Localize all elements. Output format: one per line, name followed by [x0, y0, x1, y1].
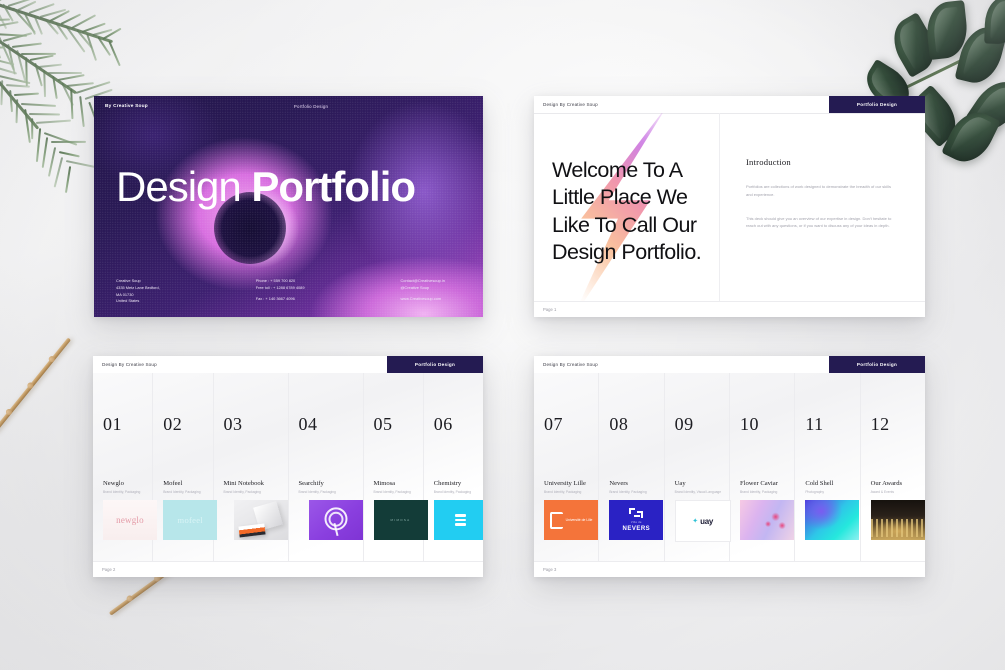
- project-name: Mofeel: [163, 480, 182, 487]
- project-number: 04: [299, 414, 318, 435]
- project-column[interactable]: 03 Mini Notebook Brand Identity, Packagi…: [214, 373, 289, 562]
- project-tags: Brand Identity, Packaging: [103, 490, 140, 494]
- thumbnail-wordmark: mofeel: [178, 515, 203, 525]
- thumbnail-wordmark: MIMOSA: [391, 518, 411, 522]
- project-thumbnail[interactable]: Ville de NEVERS: [609, 500, 663, 540]
- project-name: Nevers: [609, 480, 628, 487]
- slide-footer: Page 1: [534, 301, 925, 317]
- thumbnail-wordmark: uay: [700, 517, 713, 526]
- project-column[interactable]: 04 Searchify Brand Identity, Packaging: [289, 373, 364, 562]
- project-thumbnail[interactable]: [871, 500, 925, 540]
- slide-welcome[interactable]: Design By Creative Soup Portfolio Design…: [534, 96, 925, 317]
- address-line: 4335 Metz Lane Bedford,: [116, 285, 160, 292]
- project-number: 11: [805, 414, 823, 435]
- page-label: Page 3: [543, 567, 556, 572]
- address-line: United States: [116, 298, 160, 305]
- project-tags: Brand Identity, Packaging: [299, 490, 336, 494]
- project-tags: Brand Identity, Packaging: [609, 490, 646, 494]
- cover-address-block: Creative Soup 4335 Metz Lane Bedford, MA…: [116, 278, 160, 305]
- fax-line: Fax : + 140 3667 4096: [256, 296, 305, 303]
- thumbnail-sublabel: Ville de: [631, 521, 642, 524]
- welcome-left-panel: Welcome To A Little Place We Like To Cal…: [534, 113, 720, 302]
- cover-deck-label: Portfolio Design: [294, 104, 328, 109]
- project-column[interactable]: 10 Flower Caviar Brand Identity, Packagi…: [730, 373, 795, 562]
- introduction-paragraph: This deck should give you an overview of…: [746, 215, 895, 231]
- project-column[interactable]: 08 Nevers Brand Identity, Packaging Vill…: [599, 373, 664, 562]
- notebook-band-shape: [238, 523, 265, 537]
- social-line[interactable]: @Creative Soup: [400, 285, 444, 292]
- project-name: Cold Shell: [805, 480, 833, 487]
- project-column[interactable]: 09 Uay Brand Identity, Visual Language ✦…: [665, 373, 730, 562]
- project-column[interactable]: 11 Cold Shell Photography: [795, 373, 860, 562]
- cover-title-light: Design: [116, 163, 251, 210]
- project-name: Chemistry: [434, 480, 461, 487]
- header-badge: Portfolio Design: [829, 356, 925, 373]
- welcome-title: Welcome To A Little Place We Like To Cal…: [552, 157, 719, 266]
- cover-phone-block: Phone : + 559 700 820 Free toll : + 1288…: [256, 278, 305, 305]
- project-column[interactable]: 01 Newglo Brand Identity, Packaging newg…: [93, 373, 153, 562]
- project-thumbnail[interactable]: [805, 500, 859, 540]
- cover-contact-block: Contact@Creativesoup.in @Creative Soup w…: [400, 278, 444, 305]
- slide-projects-two[interactable]: Design By Creative Soup Portfolio Design…: [534, 356, 925, 577]
- awards-crowd-texture: [871, 519, 925, 537]
- project-tags: Brand Identity, Packaging: [163, 490, 200, 494]
- project-number: 09: [675, 414, 694, 435]
- cover-title-bold: Portfolio: [251, 163, 415, 210]
- project-name: Searchify: [299, 480, 324, 487]
- project-thumbnail[interactable]: [234, 500, 288, 540]
- project-grid: 01 Newglo Brand Identity, Packaging newg…: [93, 373, 483, 562]
- cover-header: By Creative Soup Portfolio Design: [105, 104, 472, 109]
- project-tags: Brand Identity, Visual Language: [675, 490, 721, 494]
- slide-cover[interactable]: By Creative Soup Portfolio Design Design…: [94, 96, 483, 317]
- project-thumbnail[interactable]: [740, 500, 794, 540]
- header-brand-label: Design By Creative Soup: [543, 362, 598, 367]
- nevers-glyph-icon: [628, 508, 644, 519]
- slide-footer: Page 2: [93, 561, 483, 577]
- cover-footer: Creative Soup 4335 Metz Lane Bedford, MA…: [116, 278, 467, 305]
- project-number: 02: [163, 414, 182, 435]
- project-column[interactable]: 07 University Lille Brand Identity, Pack…: [534, 373, 599, 562]
- project-tags: Brand Identity, Packaging: [740, 490, 777, 494]
- slide-projects-one[interactable]: Design By Creative Soup Portfolio Design…: [93, 356, 483, 577]
- slide-footer: Page 3: [534, 561, 925, 577]
- project-thumbnail[interactable]: [309, 500, 363, 540]
- project-thumbnail[interactable]: ✦ uay: [675, 500, 731, 542]
- project-tags: Brand Identity, Packaging: [544, 490, 581, 494]
- phone-line: Phone : + 559 700 820: [256, 278, 305, 285]
- project-thumbnail[interactable]: newglo: [103, 500, 157, 540]
- project-thumbnail[interactable]: [434, 500, 483, 540]
- header-badge: Portfolio Design: [829, 96, 925, 113]
- phone-line: Free toll : + 1288 6789 4089: [256, 285, 305, 292]
- project-thumbnail[interactable]: Université de Lille: [544, 500, 598, 540]
- project-number: 10: [740, 414, 759, 435]
- cover-brand-label: By Creative Soup: [105, 104, 148, 109]
- introduction-paragraph: Portfolios are collections of work desig…: [746, 183, 895, 199]
- project-name: Flower Caviar: [740, 480, 778, 487]
- address-line: Creative Soup: [116, 278, 160, 285]
- project-number: 08: [609, 414, 628, 435]
- project-number: 07: [544, 414, 563, 435]
- stacked-bars-icon: [455, 512, 466, 527]
- website-line[interactable]: www.Creativesoup.com: [400, 296, 444, 303]
- cover-title: Design Portfolio: [116, 166, 415, 208]
- thumbnail-wordmark: Université de Lille: [566, 518, 593, 523]
- project-tags: Photography: [805, 490, 824, 494]
- project-name: Uay: [675, 480, 686, 487]
- university-crest-icon: [550, 512, 563, 529]
- welcome-body: Welcome To A Little Place We Like To Cal…: [534, 113, 925, 302]
- badge-label: Portfolio Design: [857, 102, 897, 107]
- badge-label: Portfolio Design: [415, 362, 455, 367]
- project-column[interactable]: 02 Mofeel Brand Identity, Packaging mofe…: [153, 373, 213, 562]
- project-number: 03: [224, 414, 243, 435]
- project-tags: Award & Events: [871, 490, 894, 494]
- project-name: University Lille: [544, 480, 586, 487]
- project-number: 12: [871, 414, 890, 435]
- uay-mark-icon: ✦: [692, 517, 698, 525]
- thumbnail-wordmark: newglo: [116, 515, 144, 525]
- project-tags: Brand Identity, Packaging: [434, 490, 471, 494]
- project-tags: Brand Identity, Packaging: [374, 490, 411, 494]
- project-name: Our Awards: [871, 480, 902, 487]
- project-thumbnail[interactable]: MIMOSA: [374, 500, 428, 540]
- project-tags: Brand Identity, Packaging: [224, 490, 261, 494]
- page-label: Page 1: [543, 307, 556, 312]
- project-number: 05: [374, 414, 393, 435]
- project-grid: 07 University Lille Brand Identity, Pack…: [534, 373, 925, 562]
- thumbnail-wordmark: NEVERS: [622, 526, 650, 532]
- project-number: 06: [434, 414, 453, 435]
- email-line[interactable]: Contact@Creativesoup.in: [400, 278, 444, 285]
- project-column[interactable]: 06 Chemistry Brand Identity, Packaging: [424, 373, 483, 562]
- page-label: Page 2: [102, 567, 115, 572]
- header-badge: Portfolio Design: [387, 356, 483, 373]
- project-column[interactable]: 12 Our Awards Award & Events: [861, 373, 925, 562]
- badge-label: Portfolio Design: [857, 362, 897, 367]
- header-brand-label: Design By Creative Soup: [102, 362, 157, 367]
- project-name: Mimosa: [374, 480, 396, 487]
- introduction-heading: Introduction: [746, 157, 895, 167]
- project-thumbnail[interactable]: mofeel: [163, 500, 217, 540]
- project-number: 01: [103, 414, 122, 435]
- address-line: MA 01730: [116, 292, 160, 299]
- introduction-panel: Introduction Portfolios are collections …: [720, 113, 925, 302]
- header-brand-label: Design By Creative Soup: [543, 102, 598, 107]
- project-name: Mini Notebook: [224, 480, 264, 487]
- project-column[interactable]: 05 Mimosa Brand Identity, Packaging MIMO…: [364, 373, 424, 562]
- project-name: Newglo: [103, 480, 124, 487]
